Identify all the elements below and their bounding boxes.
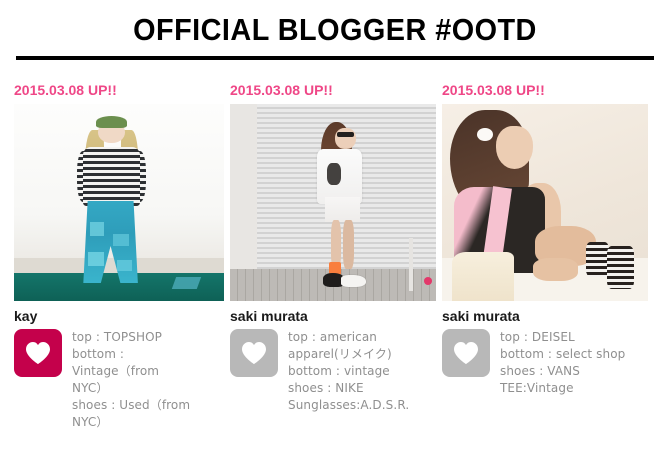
heart-icon (453, 341, 479, 365)
like-button[interactable] (230, 329, 278, 377)
photo-jeans-patch (117, 260, 132, 272)
card-body: top : TOPSHOP bottom : Vintage（from NYC）… (14, 329, 224, 431)
spec-line: NYC） (72, 380, 190, 397)
photo-jacket-print (327, 163, 341, 185)
photo-arm (533, 258, 578, 282)
card-date: 2015.03.08 UP!! (230, 82, 436, 98)
photo-leg-right (343, 220, 353, 269)
spec-line: shoes : NIKE (288, 380, 409, 397)
photo-hat (96, 116, 128, 128)
photo-red-marker (424, 277, 432, 285)
spec-line: Sunglasses:A.D.S.R. (288, 397, 409, 414)
heart-icon (25, 341, 51, 365)
heart-icon (241, 341, 267, 365)
spec-line: top : DEISEL (500, 329, 625, 346)
card-body: top : DEISEL bottom : select shop shoes … (442, 329, 648, 397)
photo-pole (409, 238, 413, 291)
photo-jeans-patch (88, 252, 105, 266)
spec-line: shoes : VANS (500, 363, 625, 380)
photo-floor-object (171, 277, 200, 289)
blogger-photo[interactable] (230, 104, 436, 301)
outfit-specs: top : TOPSHOP bottom : Vintage（from NYC）… (72, 329, 190, 431)
card-date: 2015.03.08 UP!! (442, 82, 648, 98)
photo-striped-sock (607, 246, 634, 289)
blogger-card[interactable]: 2015.03.08 UP!! kay (14, 82, 224, 431)
page-title: OFFICIAL BLOGGER #OOTD (23, 12, 646, 48)
card-date: 2015.03.08 UP!! (14, 82, 224, 98)
photo-skirt (452, 252, 514, 301)
spec-line: TEE:Vintage (500, 380, 625, 397)
blogger-cards-row: 2015.03.08 UP!! kay (0, 82, 670, 431)
photo-sunglasses (337, 132, 353, 138)
photo-shorts (325, 197, 360, 223)
photo-striped-top (83, 147, 140, 206)
blogger-photo[interactable] (14, 104, 224, 301)
page-header: OFFICIAL BLOGGER #OOTD (0, 0, 670, 60)
blogger-photo[interactable] (442, 104, 648, 301)
photo-brick-wall (230, 104, 257, 273)
spec-line: apparel(リメイク) (288, 346, 409, 363)
outfit-specs: top : DEISEL bottom : select shop shoes … (500, 329, 625, 397)
spec-line: top : american (288, 329, 409, 346)
title-divider (16, 56, 654, 60)
blogger-card[interactable]: 2015.03.08 UP!! saki murata (230, 82, 436, 414)
spec-line: bottom : select shop (500, 346, 625, 363)
blogger-card[interactable]: 2015.03.08 UP!! saki murata (442, 82, 648, 397)
photo-jeans-patch (90, 222, 105, 236)
card-body: top : american apparel(リメイク) bottom : vi… (230, 329, 436, 414)
spec-line: NYC） (72, 414, 190, 431)
photo-face (335, 128, 356, 150)
spec-line: shoes : Used（from (72, 397, 190, 414)
spec-line: bottom : vintage (288, 363, 409, 380)
outfit-specs: top : american apparel(リメイク) bottom : vi… (288, 329, 409, 414)
like-button[interactable] (14, 329, 62, 377)
photo-striped-sock (586, 242, 609, 277)
blogger-name: saki murata (230, 307, 436, 325)
spec-line: top : TOPSHOP (72, 329, 190, 346)
blogger-name: saki murata (442, 307, 648, 325)
spec-line: bottom : (72, 346, 190, 363)
spec-line: Vintage（from (72, 363, 190, 380)
photo-shoe-right (341, 275, 366, 287)
photo-face (496, 126, 533, 169)
like-button[interactable] (442, 329, 490, 377)
photo-jeans-patch (113, 234, 130, 246)
blogger-name: kay (14, 307, 224, 325)
